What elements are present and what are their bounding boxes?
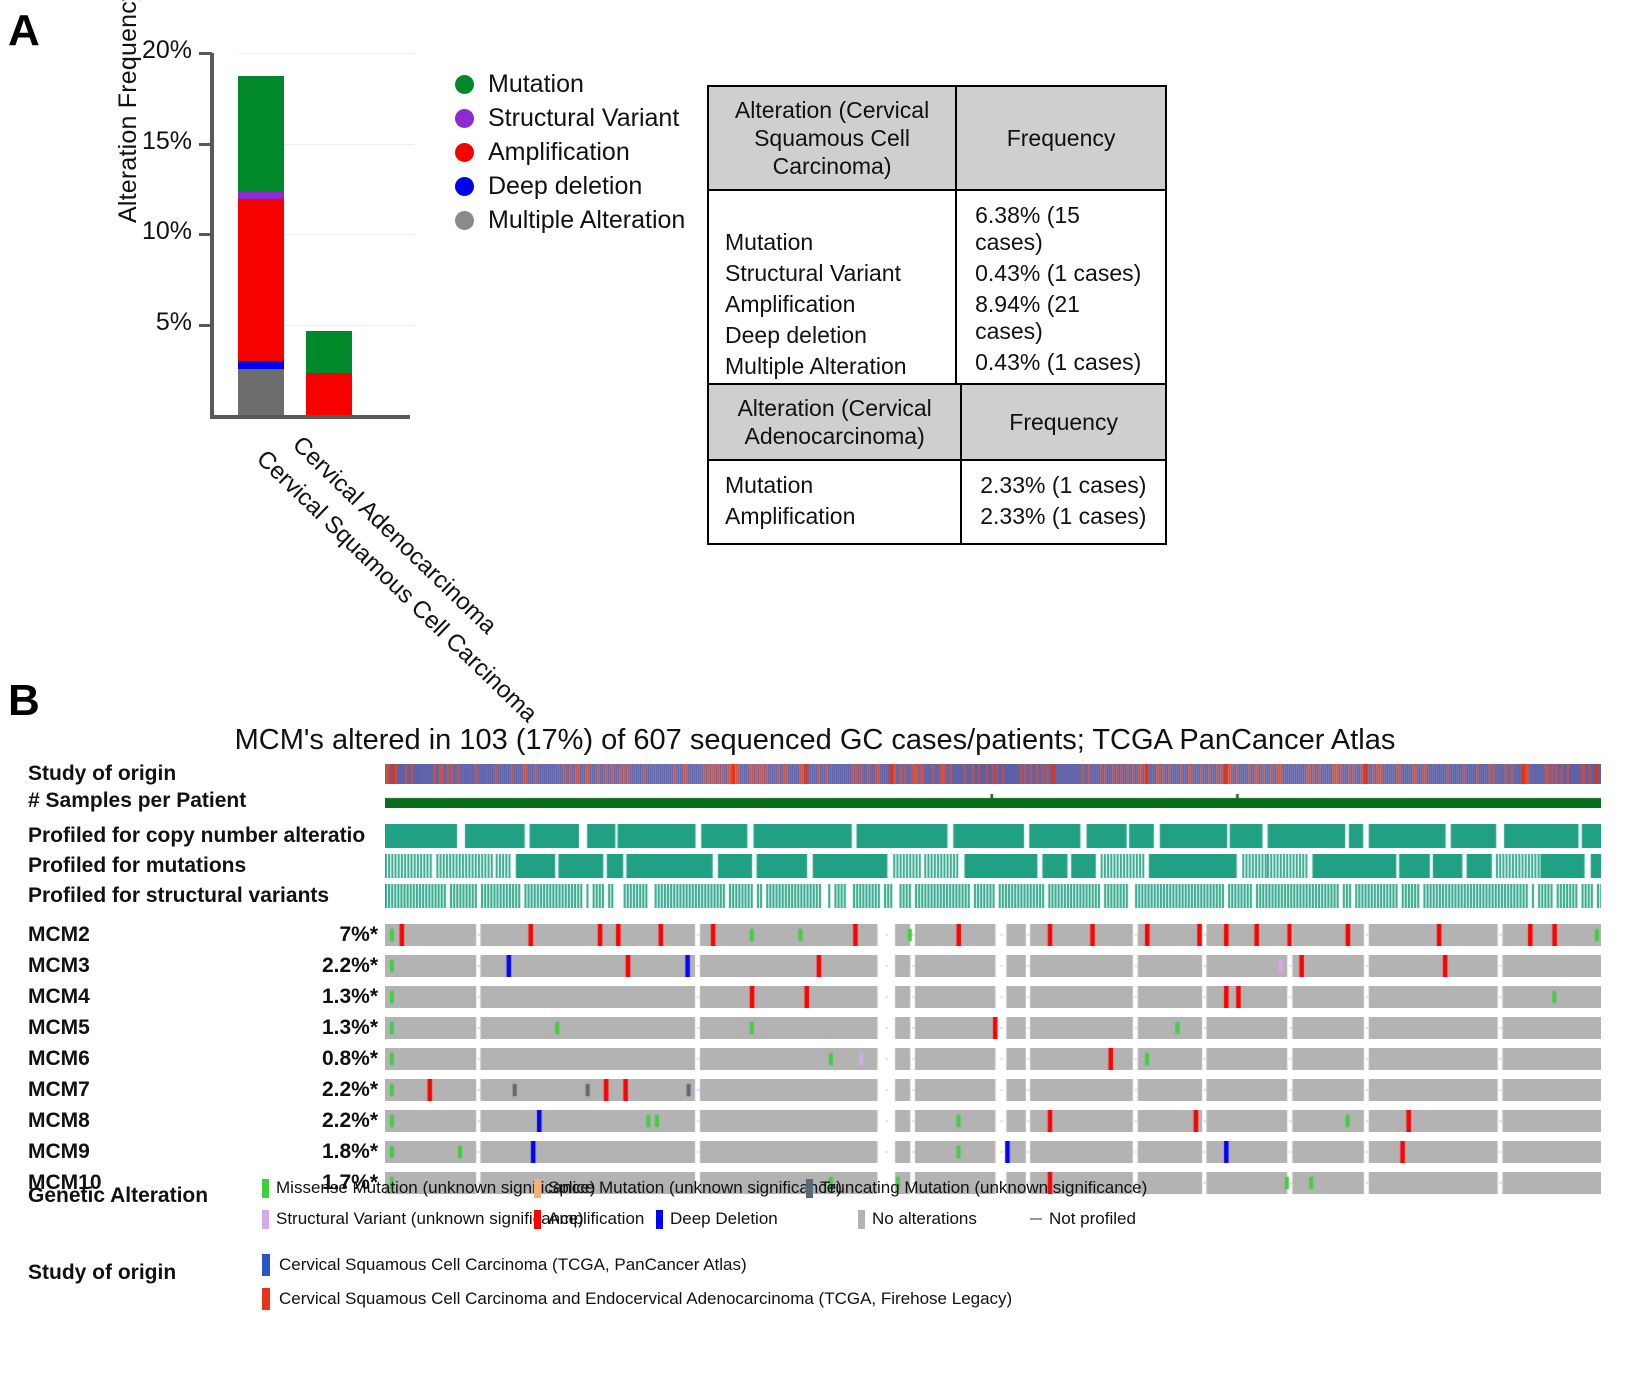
bar-segment-amplification [306, 373, 352, 415]
study-of-origin-label: Study of origin [28, 1261, 176, 1285]
gene-name-label: MCM5 [28, 1017, 90, 1039]
annotation-track-study: Study of origin [0, 764, 1630, 784]
genetic-alteration-legend-row-1: Missense Mutation (unknown significance)… [262, 1178, 1169, 1198]
table-squamous-header-alteration: Alteration (Cervical Squamous Cell Carci… [708, 86, 956, 190]
legend-swatch [262, 1179, 269, 1198]
track-label: Profiled for mutations [28, 854, 246, 878]
alteration-frequency-bar-chart: Alteration Frequency 20%15%10%5% Cervica… [120, 45, 540, 665]
legend-label: Not profiled [1049, 1209, 1136, 1229]
track-label: # Samples per Patient [28, 794, 246, 808]
legend-item-mutation: Mutation [455, 67, 685, 101]
gene-name-label: MCM4 [28, 986, 90, 1008]
gene-track-strip[interactable] [385, 924, 1601, 946]
table-squamous-row-frequency: 6.38% (15 cases) [957, 200, 1165, 258]
bar-segment-mutation [306, 331, 352, 373]
gene-percent-label: 2.2%* [238, 1079, 378, 1101]
legend-item-1: Splice Mutation (unknown significance) [534, 1178, 784, 1198]
bar-segment-deep-deletion [238, 361, 284, 369]
legend-dash-not-profiled [1030, 1218, 1042, 1220]
gene-percent-label: 1.8%* [238, 1141, 378, 1163]
table-squamous-row-alteration: Multiple Alteration [709, 351, 955, 382]
track-strip[interactable] [385, 764, 1601, 784]
annotation-track-profiled-cna: Profiled for copy number alteratio [0, 824, 1630, 848]
gene-track-strip[interactable] [385, 955, 1601, 977]
gene-name-label: MCM8 [28, 1110, 90, 1132]
table-squamous-row-alteration: Deep deletion [709, 320, 955, 351]
panel-b: B MCM's altered in 103 (17%) of 607 sequ… [0, 672, 1630, 1397]
legend-item-label: Structural Variant [488, 104, 679, 133]
legend-label: Splice Mutation (unknown significance) [548, 1178, 842, 1198]
track-strip[interactable] [385, 824, 1601, 848]
legend-swatch [806, 1179, 813, 1198]
chart-legend: MutationStructural VariantAmplificationD… [455, 67, 685, 237]
gene-name-label: MCM7 [28, 1079, 90, 1101]
panel-a: A Alteration Frequency 20%15%10%5% Cervi… [0, 0, 1630, 670]
study-legend-swatch [262, 1254, 270, 1276]
track-label: Profiled for structural variants [28, 884, 329, 908]
track-label: Study of origin [28, 764, 176, 784]
legend-item-5: Deep Deletion [656, 1209, 836, 1229]
annotation-track-profiled-sv: Profiled for structural variants [0, 884, 1630, 908]
legend-item-4: Amplification [534, 1209, 634, 1229]
table-adeno-row-alteration: Mutation [709, 470, 960, 501]
legend-swatch [534, 1179, 541, 1198]
gene-percent-label: 2.2%* [238, 1110, 378, 1132]
gene-name-label: MCM6 [28, 1048, 90, 1070]
gene-row-mcm5: MCM51.3%* [0, 1017, 1630, 1039]
legend-item-label: Multiple Alteration [488, 206, 685, 235]
legend-item-deep-deletion: Deep deletion [455, 169, 685, 203]
bar-segment-mutation [238, 76, 284, 192]
bar-1 [238, 53, 284, 415]
annotation-track-samples: # Samples per Patient [0, 794, 1630, 808]
gene-percent-label: 0.8%* [238, 1048, 378, 1070]
gene-row-mcm9: MCM91.8%* [0, 1141, 1630, 1163]
panel-b-letter: B [8, 676, 40, 726]
legend-label: Truncating Mutation (unknown significanc… [820, 1178, 1147, 1198]
study-legend-label: Cervical Squamous Cell Carcinoma and End… [279, 1289, 1012, 1309]
legend-item-label: Deep deletion [488, 172, 642, 201]
table-squamous-row-frequency: 0.43% (1 cases) [957, 258, 1165, 289]
gene-name-label: MCM9 [28, 1141, 90, 1163]
study-legend-item-1: Cervical Squamous Cell Carcinoma and End… [262, 1288, 1012, 1310]
table-adeno-row-alteration: Amplification [709, 501, 960, 532]
bar-segment-multiple-alteration [238, 369, 284, 415]
gene-row-mcm2: MCM27%* [0, 924, 1630, 946]
gene-track-strip[interactable] [385, 1079, 1601, 1101]
study-of-origin-legend: Cervical Squamous Cell Carcinoma (TCGA, … [262, 1254, 1012, 1322]
frequency-table-adenocarcinoma: Alteration (Cervical Adenocarcinoma)Freq… [707, 383, 1167, 545]
legend-swatch [858, 1210, 865, 1229]
table-adeno-row-frequency: 2.33% (1 cases) [962, 501, 1165, 532]
legend-swatch [656, 1210, 663, 1229]
legend-label: No alterations [872, 1209, 977, 1229]
legend-item-0: Missense Mutation (unknown significance) [262, 1178, 512, 1198]
bar-segment-amplification [238, 199, 284, 361]
legend-item-structural-variant: Structural Variant [455, 101, 685, 135]
legend-item-multiple-alteration: Multiple Alteration [455, 203, 685, 237]
gene-percent-label: 7%* [238, 924, 378, 946]
gene-row-mcm7: MCM72.2%* [0, 1079, 1630, 1101]
legend-color-dot [455, 177, 474, 196]
table-squamous-row-alteration: Amplification [709, 289, 955, 320]
study-legend-label: Cervical Squamous Cell Carcinoma (TCGA, … [279, 1255, 747, 1275]
genetic-alteration-legend-row-2: Structural Variant (unknown significance… [262, 1209, 1169, 1229]
table-adeno-row-frequency: 2.33% (1 cases) [962, 470, 1165, 501]
legend-item-label: Amplification [488, 138, 630, 167]
legend-item-7: Not profiled [1030, 1209, 1136, 1229]
table-row: MutationAmplification2.33% (1 cases)2.33… [708, 460, 1166, 544]
study-legend-item-0: Cervical Squamous Cell Carcinoma (TCGA, … [262, 1254, 1012, 1276]
gene-name-label: MCM3 [28, 955, 90, 977]
genetic-alteration-legend: Missense Mutation (unknown significance)… [262, 1178, 1169, 1240]
legend-swatch [262, 1210, 269, 1229]
table-adeno-header-alteration: Alteration (Cervical Adenocarcinoma) [708, 384, 961, 460]
gene-row-mcm3: MCM32.2%* [0, 955, 1630, 977]
oncoprint-title: MCM's altered in 103 (17%) of 607 sequen… [0, 724, 1630, 757]
annotation-track-profiled-mut: Profiled for mutations [0, 854, 1630, 878]
track-strip[interactable] [385, 794, 1601, 808]
panel-a-letter: A [8, 6, 40, 56]
legend-item-amplification: Amplification [455, 135, 685, 169]
gene-row-mcm4: MCM41.3%* [0, 986, 1630, 1008]
gene-track-strip[interactable] [385, 986, 1601, 1008]
table-squamous-header-frequency: Frequency [956, 86, 1166, 190]
gene-percent-label: 1.3%* [238, 986, 378, 1008]
table-squamous-row-alteration: Structural Variant [709, 258, 955, 289]
table-squamous-row-frequency: 0.43% (1 cases) [957, 347, 1165, 378]
gene-percent-label: 2.2%* [238, 955, 378, 977]
gene-row-mcm8: MCM82.2%* [0, 1110, 1630, 1132]
gene-name-label: MCM2 [28, 924, 90, 946]
legend-swatch [534, 1210, 541, 1229]
gene-track-strip[interactable] [385, 1048, 1601, 1070]
study-legend-swatch [262, 1288, 270, 1310]
frequency-table-squamous: Alteration (Cervical Squamous Cell Carci… [707, 85, 1167, 422]
legend-label: Amplification [548, 1209, 644, 1229]
track-strip[interactable] [385, 854, 1601, 878]
track-strip[interactable] [385, 884, 1601, 908]
table-squamous-row-alteration: Mutation [709, 227, 955, 258]
legend-color-dot [455, 109, 474, 128]
bar-segment-structural-variant [238, 191, 284, 199]
legend-item-2: Truncating Mutation (unknown significanc… [806, 1178, 1147, 1198]
bar-2 [306, 53, 352, 415]
legend-color-dot [455, 211, 474, 230]
legend-item-label: Mutation [488, 70, 584, 99]
gene-track-strip[interactable] [385, 1017, 1601, 1039]
gene-track-strip[interactable] [385, 1141, 1601, 1163]
legend-label: Deep Deletion [670, 1209, 778, 1229]
gene-row-mcm6: MCM60.8%* [0, 1048, 1630, 1070]
gene-track-strip[interactable] [385, 1110, 1601, 1132]
track-label: Profiled for copy number alteratio [28, 824, 365, 848]
legend-color-dot [455, 143, 474, 162]
genetic-alteration-label: Genetic Alteration [28, 1184, 208, 1208]
table-adeno-header-frequency: Frequency [961, 384, 1166, 460]
legend-color-dot [455, 75, 474, 94]
legend-item-6: No alterations [858, 1209, 1008, 1229]
gene-percent-label: 1.3%* [238, 1017, 378, 1039]
table-squamous-row-frequency: 8.94% (21 cases) [957, 289, 1165, 347]
legend-item-3: Structural Variant (unknown significance… [262, 1209, 512, 1229]
